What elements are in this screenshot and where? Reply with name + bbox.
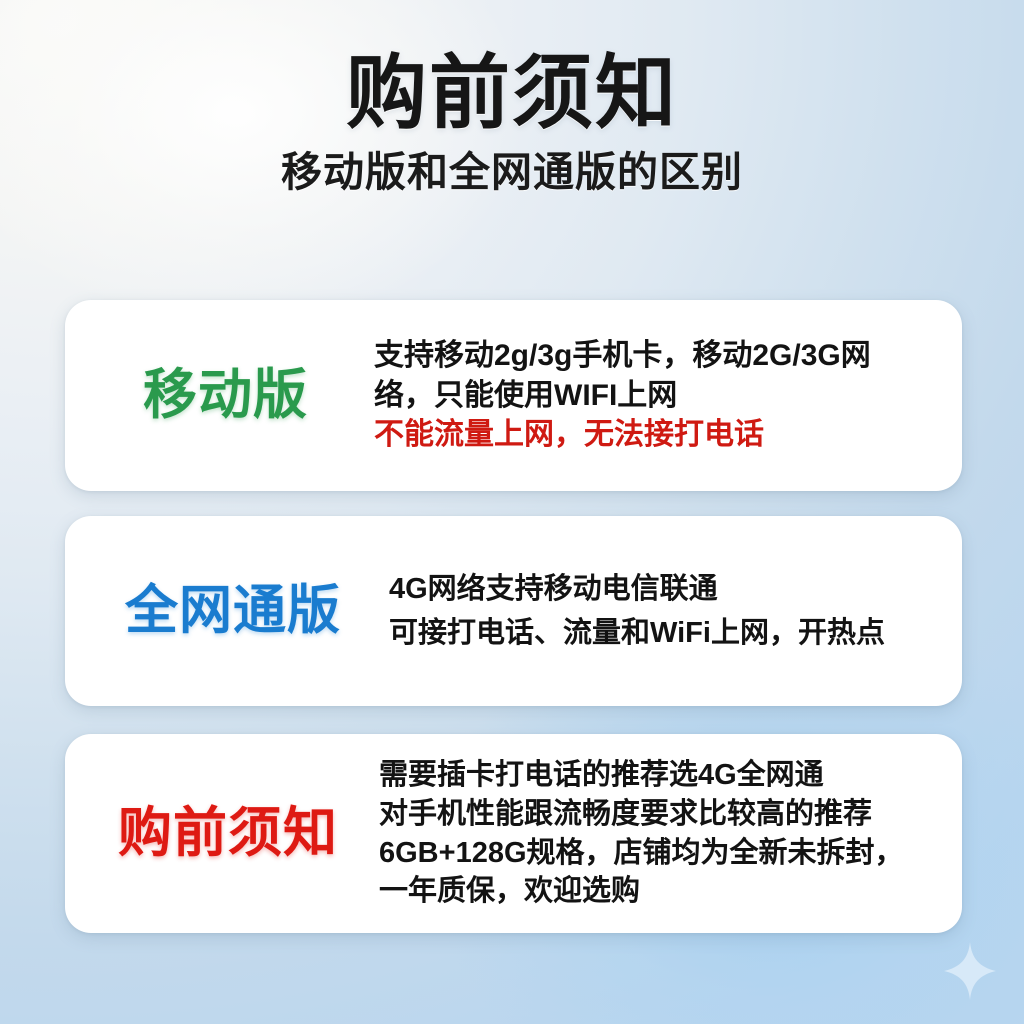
card-text-line: 络，只能使用WIFI上网 (374, 376, 936, 416)
page-title: 购前须知 (0, 52, 1024, 138)
info-card-mobile: 移动版 支持移动2g/3g手机卡，移动2G/3G网 络，只能使用WIFI上网 不… (65, 300, 962, 491)
page-subtitle: 移动版和全网通版的区别 (0, 150, 1024, 196)
card-label-notice: 购前须知 (83, 805, 373, 861)
info-card-allnet: 全网通版 4G网络支持移动电信联通 可接打电话、流量和WiFi上网，开热点 (65, 516, 962, 706)
card-text-line: 可接打电话、流量和WiFi上网，开热点 (389, 611, 936, 655)
card-text-line: 4G网络支持移动电信联通 (389, 567, 936, 611)
sparkle-icon (944, 942, 996, 1000)
card-body-mobile: 支持移动2g/3g手机卡，移动2G/3G网 络，只能使用WIFI上网 不能流量上… (368, 336, 936, 455)
card-label-mobile: 移动版 (83, 367, 368, 423)
card-text-line: 6GB+128G规格，店铺均为全新未拆封， (379, 834, 936, 873)
card-body-notice: 需要插卡打电话的推荐选4G全网通 对手机性能跟流畅度要求比较高的推荐 6GB+1… (373, 756, 936, 911)
card-text-line: 支持移动2g/3g手机卡，移动2G/3G网 (374, 336, 936, 376)
card-text-line: 对手机性能跟流畅度要求比较高的推荐 (379, 795, 936, 834)
card-text-line: 需要插卡打电话的推荐选4G全网通 (379, 756, 936, 795)
card-body-allnet: 4G网络支持移动电信联通 可接打电话、流量和WiFi上网，开热点 (383, 567, 936, 655)
poster-header: 购前须知 移动版和全网通版的区别 (0, 0, 1024, 196)
info-card-notice: 购前须知 需要插卡打电话的推荐选4G全网通 对手机性能跟流畅度要求比较高的推荐 … (65, 734, 962, 933)
card-warning-line: 不能流量上网，无法接打电话 (374, 415, 936, 455)
card-text-line: 一年质保，欢迎选购 (379, 872, 936, 911)
info-card-list: 移动版 支持移动2g/3g手机卡，移动2G/3G网 络，只能使用WIFI上网 不… (65, 300, 962, 933)
poster-canvas: 购前须知 移动版和全网通版的区别 移动版 支持移动2g/3g手机卡，移动2G/3… (0, 0, 1024, 1024)
card-label-allnet: 全网通版 (83, 583, 383, 638)
